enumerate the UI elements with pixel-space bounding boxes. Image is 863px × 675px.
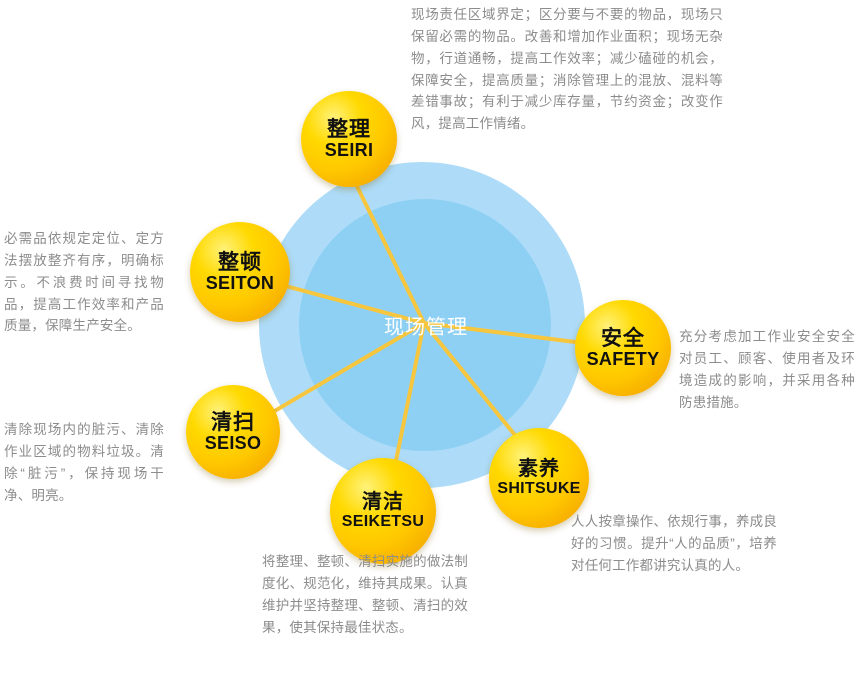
node-label-en-safety: SAFETY (587, 350, 660, 368)
node-label-en-seiri: SEIRI (325, 141, 374, 159)
center-label: 现场管理 (384, 311, 468, 340)
node-label-cn-seiri: 整理 (327, 119, 371, 140)
node-label-en-seiketsu: SEIKETSU (342, 514, 424, 530)
description-safety: 充分考虑加工作业安全安全对员工、顾客、使用者及环境造成的影响，并采用各种防患措施… (679, 326, 855, 413)
diagram-canvas: 0% 55% 100% 0% 100% 现场管理 (0, 0, 863, 675)
node-label-cn-seiso: 清扫 (211, 412, 255, 433)
node-label-cn-shitsuke: 素养 (518, 459, 560, 479)
description-seiso: 清除现场内的脏污、清除作业区域的物料垃圾。清除“脏污”，保持现场干净、明亮。 (4, 419, 164, 506)
description-shitsuke: 人人按章操作、依规行事，养成良好的习惯。提升“人的品质”，培养对任何工作都讲究认… (571, 511, 777, 577)
node-label-en-seiton: SEITON (206, 274, 274, 292)
node-bubble-seiketsu[interactable]: 清洁 SEIKETSU (330, 458, 436, 564)
node-label-cn-safety: 安全 (601, 328, 645, 349)
node-bubble-safety[interactable]: 安全 SAFETY (575, 300, 671, 396)
node-label-cn-seiketsu: 清洁 (362, 492, 404, 512)
description-seiri: 现场责任区域界定；区分要与不要的物品，现场只保留必需的物品。改善和增加作业面积；… (411, 4, 723, 135)
description-seiton: 必需品依规定定位、定方法摆放整齐有序，明确标示。不浪费时间寻找物品，提高工作效率… (4, 228, 164, 337)
node-bubble-seiri[interactable]: 整理 SEIRI (301, 91, 397, 187)
node-label-cn-seiton: 整顿 (218, 252, 262, 273)
node-bubble-seiso[interactable]: 清扫 SEISO (186, 385, 280, 479)
node-bubble-seiton[interactable]: 整顿 SEITON (190, 222, 290, 322)
node-label-en-seiso: SEISO (205, 434, 262, 452)
node-label-en-shitsuke: SHITSUKE (497, 481, 580, 497)
description-seiketsu: 将整理、整顿、清扫实施的做法制度化、规范化，维持其成果。认真维护并坚持整理、整顿… (262, 551, 468, 638)
